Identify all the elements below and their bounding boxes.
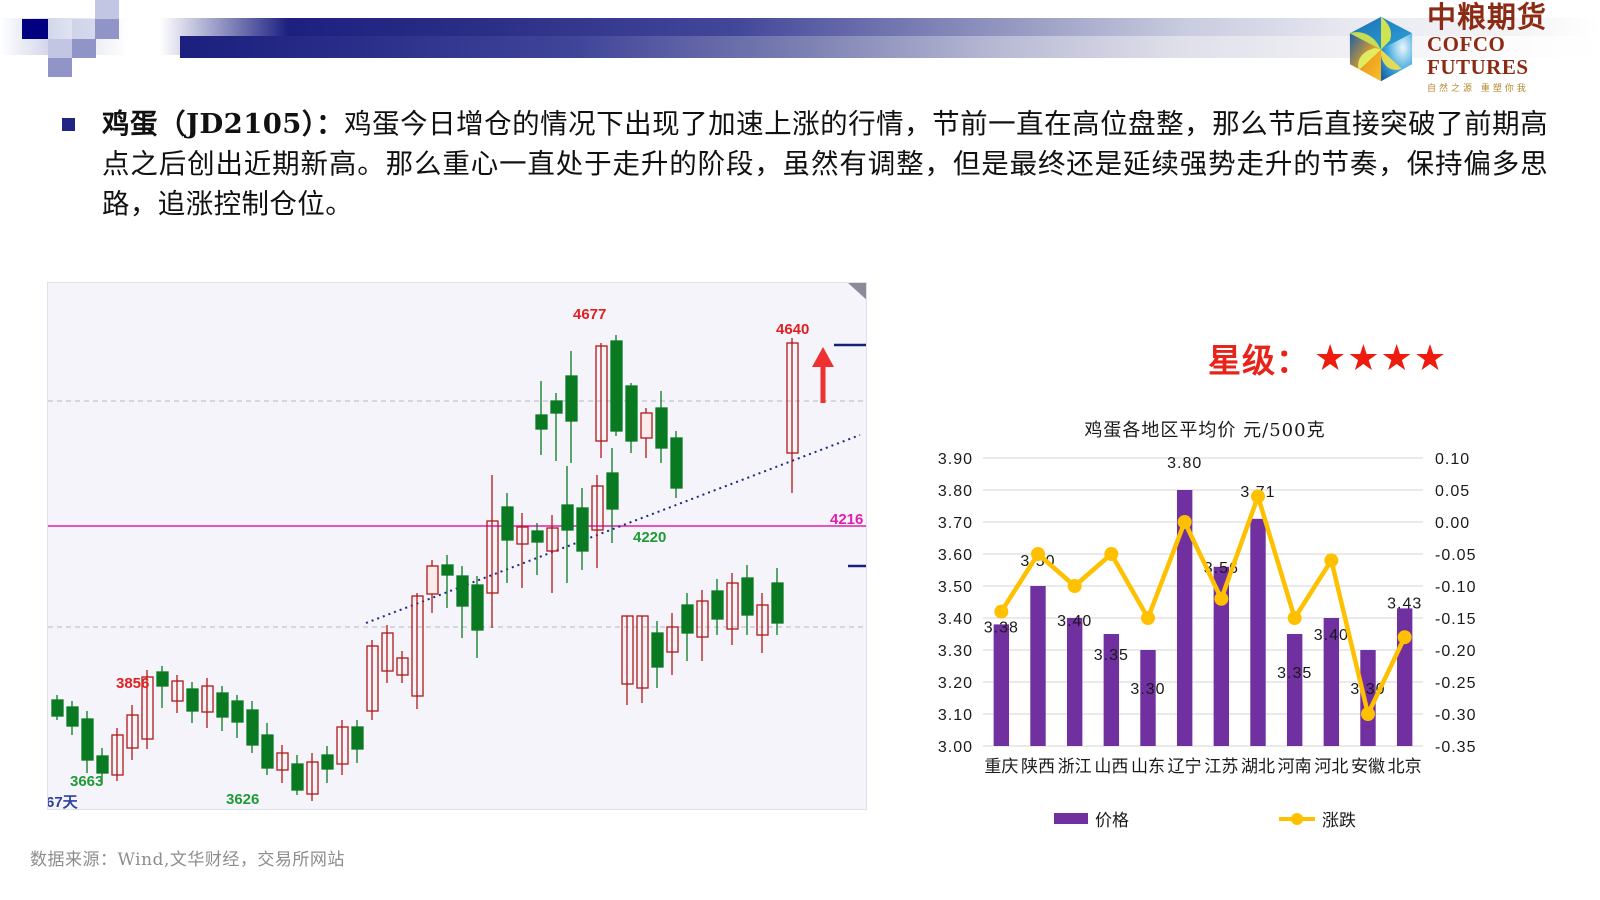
logo-slogan: 自然之源 重塑你我	[1427, 81, 1529, 94]
label-4640: 4640	[776, 321, 809, 338]
y-tick-left: 3.90	[938, 451, 973, 468]
cofco-futures-logo: 中粮期货 COFCO FUTURES 自然之源 重塑你我	[1343, 6, 1578, 90]
change-point	[1068, 579, 1082, 593]
logo-english-name: COFCO FUTURES	[1427, 33, 1578, 79]
label-4677: 4677	[573, 306, 606, 323]
chart-legend: 价格 涨跌	[905, 806, 1505, 831]
y-tick-left: 3.50	[938, 579, 973, 596]
y-tick-left: 3.60	[938, 547, 973, 564]
legend-line-swatch-icon	[1279, 812, 1315, 826]
data-source-note: 数据来源：Wind,文华财经，交易所网站	[30, 845, 345, 870]
y-tick-right: -0.25	[1435, 675, 1476, 692]
y-tick-left: 3.40	[938, 611, 973, 628]
price-bar	[1397, 608, 1412, 746]
logo-chinese-name: 中粮期货	[1427, 2, 1547, 32]
x-tick-label: 重庆	[984, 757, 1018, 777]
y-tick-right: -0.15	[1435, 611, 1476, 628]
change-point	[1104, 547, 1118, 561]
x-tick-label: 辽宁	[1168, 757, 1202, 777]
chart-title: 鸡蛋各地区平均价 元/500克	[905, 416, 1505, 442]
price-bar	[1030, 586, 1045, 746]
y-tick-left: 3.30	[938, 643, 973, 660]
price-bar-label: 3.40	[1314, 627, 1349, 644]
price-bar	[994, 624, 1009, 746]
y-tick-right: -0.30	[1435, 707, 1476, 724]
deco-square	[48, 39, 72, 58]
change-point	[1288, 611, 1302, 625]
candlestick-chart-svg	[48, 283, 867, 810]
price-bar-label: 3.35	[1277, 665, 1312, 682]
price-bar	[1067, 618, 1082, 746]
analysis-lead: 鸡蛋（JD2105）：	[102, 108, 344, 140]
legend-bar-swatch-icon	[1054, 813, 1088, 824]
deco-square-navy	[22, 19, 48, 39]
y-tick-left: 3.20	[938, 675, 973, 692]
x-tick-label: 河北	[1314, 757, 1348, 777]
y-axis-left-ticks: 3.003.103.203.303.403.503.603.703.803.90	[938, 451, 973, 756]
star-icons: ★★★★	[1314, 340, 1447, 376]
label-period: 67天	[47, 791, 78, 810]
label-4216: 4216	[830, 511, 863, 528]
x-tick-label: 浙江	[1058, 757, 1092, 777]
y-tick-left: 3.00	[938, 739, 973, 756]
label-3856: 3856	[116, 675, 149, 692]
y-tick-left: 3.80	[938, 483, 973, 500]
price-bar	[1250, 519, 1265, 746]
analysis-paragraph: 鸡蛋（JD2105）：鸡蛋今日增仓的情况下出现了加速上涨的行情，节前一直在高位盘…	[102, 104, 1548, 224]
price-bar-label: 3.40	[1057, 613, 1092, 630]
legend-label-price: 价格	[1095, 806, 1129, 831]
y-tick-left: 3.70	[938, 515, 973, 532]
deco-square	[95, 19, 119, 39]
bar-chart-svg: 3.003.103.203.303.403.503.603.703.803.90…	[905, 444, 1505, 804]
regional-egg-price-chart[interactable]: 鸡蛋各地区平均价 元/500克 3.003.103.203.303.403.50…	[905, 408, 1505, 858]
grid-lines	[983, 458, 1423, 746]
legend-item-change: 涨跌	[1279, 806, 1356, 831]
change-point	[1324, 553, 1338, 567]
price-bar-label: 3.80	[1167, 455, 1202, 472]
y-tick-right: 0.00	[1435, 515, 1470, 532]
candlestick-chart-panel[interactable]: 4677 4640 4216 4220 3856 3663 3626 67天	[47, 282, 867, 810]
legend-item-price: 价格	[1054, 806, 1129, 831]
change-point	[994, 605, 1008, 619]
change-point	[1031, 547, 1045, 561]
deco-square	[95, 0, 119, 19]
price-bar-label: 3.30	[1130, 681, 1165, 698]
change-point	[1141, 611, 1155, 625]
x-tick-label: 山东	[1131, 757, 1165, 777]
change-point	[1251, 489, 1265, 503]
change-point	[1361, 707, 1375, 721]
cofco-cube-icon	[1343, 11, 1419, 85]
y-tick-right: 0.05	[1435, 483, 1470, 500]
y-tick-left: 3.10	[938, 707, 973, 724]
deco-square	[48, 58, 72, 77]
x-tick-label: 山西	[1094, 757, 1128, 777]
deco-square	[72, 19, 96, 39]
y-axis-right-ticks: -0.35-0.30-0.25-0.20-0.15-0.10-0.050.000…	[1435, 451, 1476, 756]
change-point	[1178, 515, 1192, 529]
star-rating: 星级： ★★★★	[1208, 334, 1447, 382]
x-tick-label: 江苏	[1204, 757, 1238, 777]
change-polyline	[1001, 496, 1404, 714]
y-tick-right: -0.35	[1435, 739, 1476, 756]
price-bar	[1287, 634, 1302, 746]
star-rating-label: 星级：	[1208, 334, 1310, 382]
price-bar	[1140, 650, 1155, 746]
y-tick-right: -0.10	[1435, 579, 1476, 596]
content-block: 鸡蛋（JD2105）：鸡蛋今日增仓的情况下出现了加速上涨的行情，节前一直在高位盘…	[58, 104, 1548, 224]
x-axis-category-labels: 重庆陕西浙江山西山东辽宁江苏湖北河南河北安徽北京	[984, 757, 1421, 777]
y-tick-right: -0.05	[1435, 547, 1476, 564]
label-4220: 4220	[633, 529, 666, 546]
label-3663: 3663	[70, 773, 103, 790]
change-point	[1214, 592, 1228, 606]
change-point	[1398, 630, 1412, 644]
bullet-square-icon	[62, 118, 75, 131]
deco-square	[72, 39, 96, 58]
price-bar-label: 3.35	[1094, 647, 1129, 664]
price-bar-label: 3.43	[1387, 595, 1422, 612]
y-tick-right: -0.20	[1435, 643, 1476, 660]
x-tick-label: 河南	[1278, 757, 1312, 777]
change-line	[994, 489, 1411, 721]
logo-wordmark: 中粮期货 COFCO FUTURES 自然之源 重塑你我	[1427, 2, 1578, 94]
x-tick-label: 安徽	[1351, 757, 1385, 777]
x-tick-label: 湖北	[1241, 757, 1275, 777]
x-tick-label: 陕西	[1021, 757, 1055, 777]
label-3626: 3626	[226, 791, 259, 808]
legend-label-change: 涨跌	[1322, 806, 1356, 831]
price-bar-label: 3.38	[984, 619, 1019, 636]
y-tick-right: 0.10	[1435, 451, 1470, 468]
x-tick-label: 北京	[1388, 757, 1422, 777]
